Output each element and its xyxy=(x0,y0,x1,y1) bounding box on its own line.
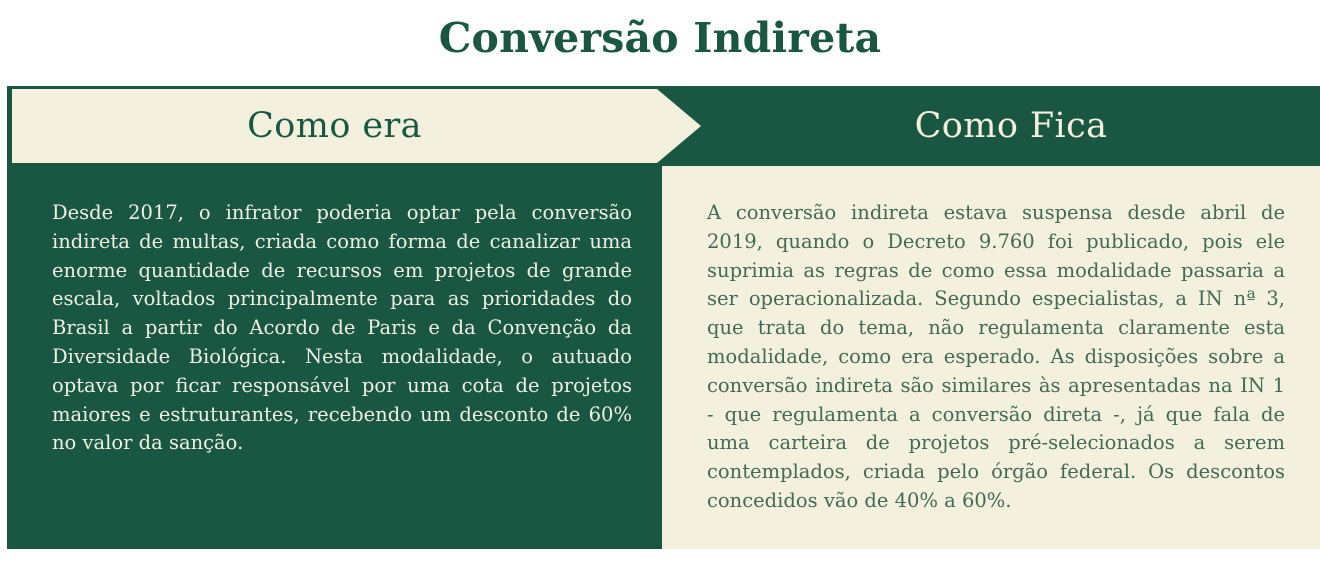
comparison-panel: Como era Como Fica Desde 2017, o infrato… xyxy=(7,86,1320,549)
como-era-header-label: Como era xyxy=(12,89,657,163)
como-fica-body-text: A conversão indireta estava suspensa des… xyxy=(707,199,1285,516)
como-era-banner-arrow: Como era xyxy=(12,89,701,163)
cropped-footer-text xyxy=(28,563,1028,573)
como-era-body-text: Desde 2017, o infrator poderia optar pel… xyxy=(52,199,632,458)
como-fica-header-label: Como Fica xyxy=(707,89,1315,163)
page-title: Conversão Indireta xyxy=(0,13,1320,64)
infographic-page: Conversão Indireta Como era Como Fica De… xyxy=(0,0,1320,573)
